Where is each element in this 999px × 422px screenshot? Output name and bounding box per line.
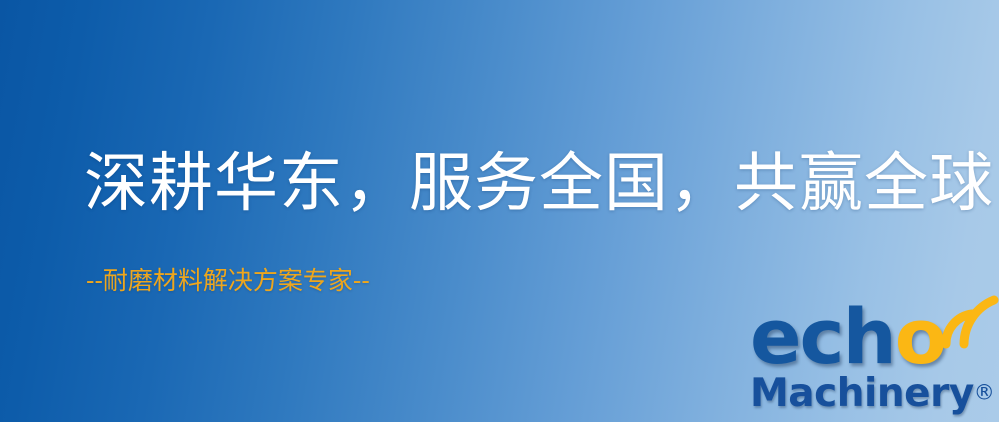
logo-brand-row: echo	[750, 298, 945, 376]
registered-trademark-icon: ®	[974, 381, 995, 405]
signal-waves-icon	[936, 292, 999, 352]
promo-banner: 深耕华东，服务全国，共赢全球 --耐磨材料解决方案专家-- echo Machi…	[0, 0, 999, 422]
logo-tagline-text: Machinery	[750, 371, 974, 416]
logo-brand-text: ech	[750, 292, 895, 381]
logo-tagline-row: Machinery®	[750, 372, 995, 416]
banner-headline: 深耕华东，服务全国，共赢全球	[84, 152, 994, 216]
echo-machinery-logo[interactable]: echo Machinery®	[742, 298, 994, 420]
banner-subtitle: --耐磨材料解决方案专家--	[86, 268, 370, 293]
